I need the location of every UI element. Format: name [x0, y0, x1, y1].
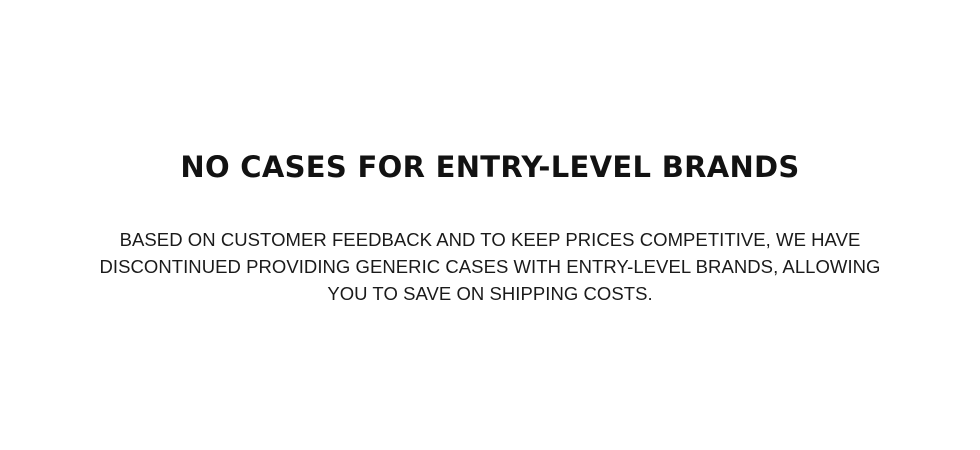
- notice-body-line: BASED ON CUSTOMER FEEDBACK AND TO KEEP P…: [90, 226, 890, 253]
- notice-body: BASED ON CUSTOMER FEEDBACK AND TO KEEP P…: [90, 186, 890, 307]
- notice-content: NO CASES FOR ENTRY-LEVEL BRANDS BASED ON…: [80, 148, 900, 307]
- notice-body-line: DISCONTINUED PROVIDING GENERIC CASES WIT…: [90, 253, 890, 280]
- notice-banner: NO CASES FOR ENTRY-LEVEL BRANDS BASED ON…: [0, 0, 980, 450]
- notice-body-line: YOU TO SAVE ON SHIPPING COSTS.: [90, 280, 890, 307]
- notice-heading: NO CASES FOR ENTRY-LEVEL BRANDS: [180, 148, 799, 186]
